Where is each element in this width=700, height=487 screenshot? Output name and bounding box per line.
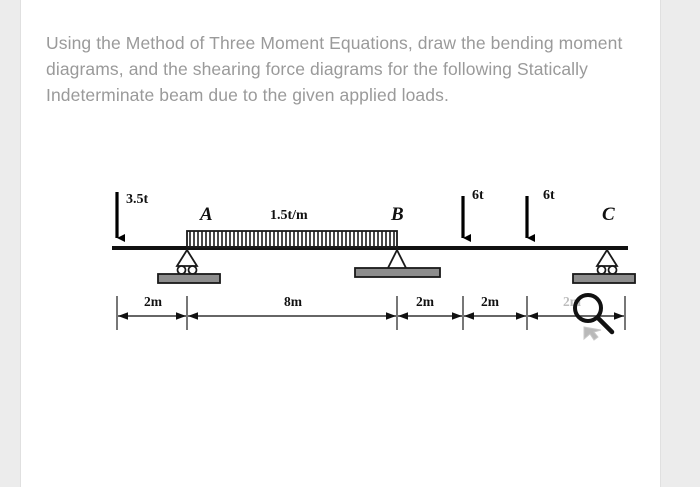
dimension-label-2: 8m [284,294,302,310]
support-c-roller [573,250,635,283]
support-b-pin [355,250,440,277]
distributed-load-label: 1.5t/m [270,208,308,224]
support-label-c: C [602,204,615,226]
page-root: Using the Method of Three Moment Equatio… [0,0,700,487]
beam-diagram-svg [0,0,700,487]
load-label-6t-2: 6t [543,188,555,204]
support-a-roller [158,250,220,283]
dimension-label-1: 2m [144,294,162,310]
support-label-a: A [200,204,213,226]
dimension-label-4: 2m [481,294,499,310]
beam-figure: 3.5t A 1.5t/m B 6t 6t C 2m 8m 2m 2m 2m [0,0,700,487]
dimension-line-group [117,296,625,330]
dimension-label-3: 2m [416,294,434,310]
support-label-b: B [391,204,404,226]
load-label-6t-1: 6t [472,188,484,204]
distributed-load-region [187,231,397,247]
dimension-label-5: 2m [563,294,581,310]
load-label-3.5t: 3.5t [126,192,148,208]
